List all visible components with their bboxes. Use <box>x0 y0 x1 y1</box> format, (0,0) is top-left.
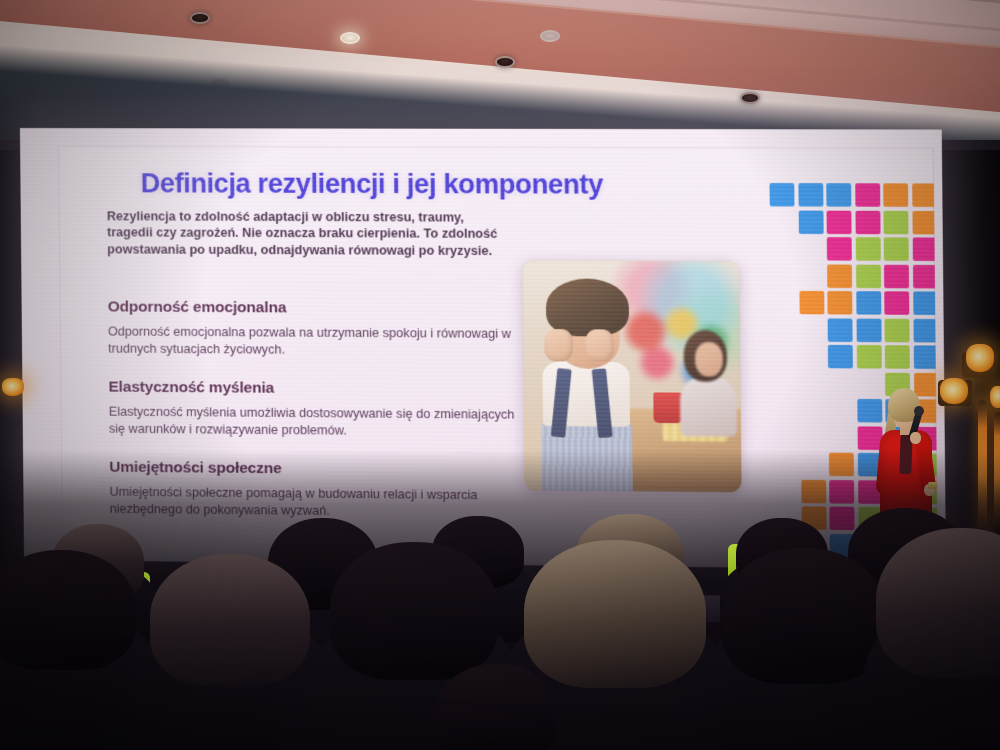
audience-head <box>524 540 706 688</box>
mosaic-tile-blue <box>828 318 853 342</box>
section-heading: Elastyczność myślenia <box>108 379 523 400</box>
mosaic-tile-orange <box>799 291 824 315</box>
photo-boy-face <box>555 309 621 369</box>
slide-section-emotional-resilience: Odporność emocjonalna Odporność emocjona… <box>108 298 523 361</box>
mosaic-tile-blue <box>913 345 937 369</box>
stage-light <box>990 386 1000 408</box>
mosaic-tile-blue <box>913 318 938 342</box>
mosaic-tile-magenta <box>912 264 937 288</box>
mosaic-tile-green <box>855 264 880 288</box>
photo-boy-shirt <box>543 362 630 427</box>
section-heading: Odporność emocjonalna <box>108 298 523 318</box>
mosaic-tile-orange <box>912 210 937 234</box>
audience <box>0 450 1000 750</box>
mosaic-tile-green <box>883 210 908 234</box>
mosaic-tile-green <box>885 345 910 369</box>
mosaic-tile-magenta <box>827 210 852 233</box>
ceiling-spotlight <box>495 56 515 68</box>
mosaic-tile-magenta <box>884 291 909 315</box>
mosaic-tile-blue <box>798 183 823 206</box>
ceiling-spotlight <box>190 12 210 24</box>
photo-egg-tray <box>662 422 728 441</box>
photo-boy-fist <box>586 330 615 362</box>
photo-overall-button <box>554 424 565 436</box>
audience-head <box>436 664 556 750</box>
section-body: Odporność emocjonalna pozwala na utrzyma… <box>108 323 523 360</box>
ceiling-spotlight <box>340 32 360 44</box>
mosaic-tile-magenta <box>912 237 937 261</box>
mosaic-tile-green <box>884 318 909 342</box>
mosaic-tile-blue <box>826 183 851 206</box>
presenter-hand <box>910 432 921 444</box>
mosaic-tile-blue <box>856 318 881 342</box>
mosaic-tile-green <box>884 237 909 261</box>
mosaic-tile-green <box>856 345 881 369</box>
stage-light <box>966 344 994 372</box>
slide-section-thinking-flexibility: Elastyczność myślenia Elastyczność myśle… <box>108 379 523 442</box>
photo-boy-fist <box>544 329 572 361</box>
photo-girl-body <box>679 376 736 437</box>
mosaic-tile-magenta <box>855 210 880 233</box>
section-body: Elastyczność myślenia umożliwia dostosow… <box>109 404 524 442</box>
photo-red-cup <box>653 392 682 422</box>
audience-head <box>0 550 136 670</box>
photo-girl-hair <box>683 330 727 381</box>
photo-girl-face <box>694 342 723 377</box>
mosaic-tile-blue <box>798 210 823 233</box>
photo-overall-button <box>599 424 610 436</box>
mosaic-tile-blue <box>913 291 938 315</box>
mosaic-tile-magenta <box>884 264 909 288</box>
photo-boy-hair <box>546 279 629 337</box>
mosaic-tile-magenta <box>827 237 852 260</box>
mosaic-tile-blue <box>770 183 795 206</box>
mosaic-tile-orange <box>827 264 852 288</box>
stage-light-left <box>2 378 24 396</box>
mosaic-tile-orange <box>912 183 937 207</box>
slide-title: Definicja rezyliencji i jej komponenty <box>141 168 604 201</box>
mosaic-tile-green <box>855 237 880 261</box>
mosaic-tile-blue <box>828 345 853 369</box>
photo-overall-strap <box>550 368 571 438</box>
microphone-head-icon <box>914 406 924 416</box>
photo-toy-shelf <box>622 302 736 400</box>
mosaic-tile-orange <box>883 183 908 206</box>
slide-intro-paragraph: Rezyliencja to zdolność adaptacji w obli… <box>107 208 510 259</box>
ceiling-spotlight <box>540 30 560 42</box>
mosaic-tile-magenta <box>855 183 880 206</box>
audience-head <box>330 542 498 680</box>
photo-overall-strap <box>592 369 613 439</box>
conference-photo-scene: Definicja rezyliencji i jej komponenty R… <box>0 0 1000 750</box>
audience-head <box>722 548 886 684</box>
mosaic-tile-orange <box>827 291 852 315</box>
mosaic-tile-blue <box>856 291 881 315</box>
audience-head <box>150 554 310 686</box>
